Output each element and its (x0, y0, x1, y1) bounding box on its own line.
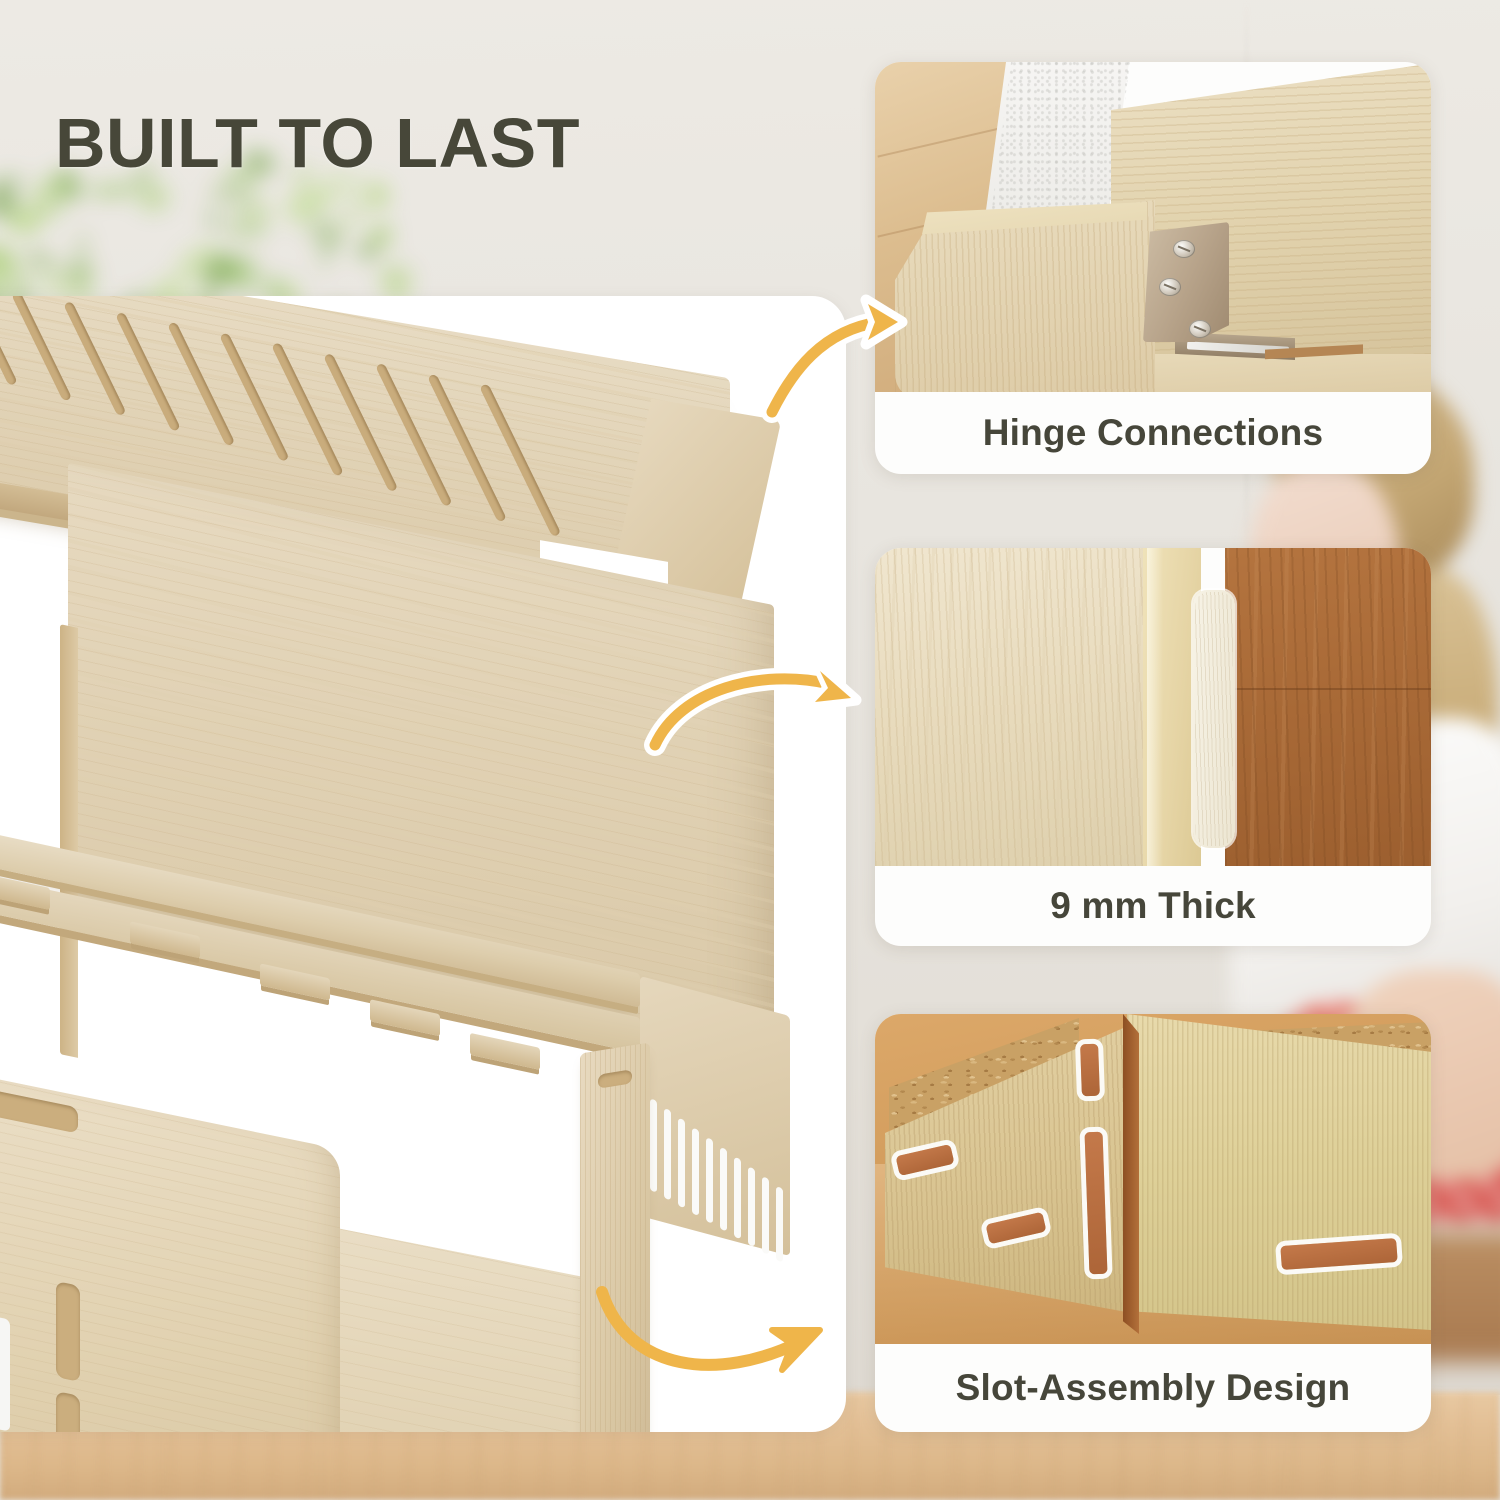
hinge-bracket-closeup-photo (875, 62, 1431, 392)
right-panel-grain (1127, 1014, 1431, 1330)
grill-bar (734, 1157, 741, 1239)
feature-card-hinge-connections[interactable]: Hinge Connections (875, 62, 1431, 474)
interlock-tab (470, 1033, 540, 1070)
slot-cutout (598, 1069, 632, 1088)
leaf (77, 233, 90, 249)
feature-card-slot-assembly[interactable]: Slot-Assembly Design (875, 1014, 1431, 1432)
hinge-screw (1159, 278, 1181, 296)
interlock-tab (370, 999, 440, 1036)
main-product-panel (0, 296, 846, 1432)
feature-card-label: 9 mm Thick (875, 866, 1431, 946)
slot-cutout (0, 1089, 78, 1133)
leaf (23, 248, 55, 273)
second-panel-grain (1195, 592, 1233, 846)
light-wood-grain (875, 548, 1147, 866)
leaf (88, 183, 135, 199)
leaf (218, 258, 258, 281)
slot-cutout (56, 1281, 80, 1382)
feature-card-label: Hinge Connections (875, 392, 1431, 474)
hinge-screw (1189, 320, 1211, 338)
lid-slat (0, 296, 18, 386)
grill-bar (692, 1128, 699, 1216)
slot-cutout (56, 1391, 80, 1432)
interlock-tab (130, 921, 200, 958)
leaf (378, 263, 414, 295)
corner-edge-band (1123, 1014, 1139, 1334)
grill-bar (720, 1147, 727, 1231)
hinge-screw (1173, 240, 1195, 258)
panel-thickness-closeup-photo (875, 548, 1431, 866)
grill-bar (650, 1099, 657, 1193)
plank-seam (1225, 688, 1431, 690)
slot-tab (1080, 1044, 1100, 1097)
body-left-edge (60, 624, 78, 1058)
grill-bar (664, 1108, 671, 1200)
page-title: BUILT TO LAST (55, 108, 580, 178)
grill-bar (678, 1118, 685, 1208)
leaf (201, 207, 225, 233)
slot-tab-corner-closeup-photo (875, 1014, 1431, 1344)
panel-white-inset (0, 1281, 10, 1432)
interlock-tab (260, 963, 330, 1000)
lower-wood-panel (1147, 354, 1431, 392)
feature-card-thickness[interactable]: 9 mm Thick (875, 548, 1431, 946)
lid-slat (427, 373, 507, 522)
leaf (331, 197, 372, 236)
dark-wood-grain (1225, 548, 1431, 866)
grill-bar (762, 1177, 769, 1255)
lid-slat (479, 383, 561, 536)
rear-rail (640, 976, 790, 1256)
front-panel-grain (0, 1043, 340, 1432)
leaf (370, 225, 392, 247)
grill-bar (776, 1186, 783, 1262)
exploded-product-render (0, 296, 846, 1432)
side-panel-grain (580, 1042, 650, 1432)
edge-highlight (1147, 548, 1163, 866)
lid-slat (11, 296, 72, 401)
grill-bar (748, 1167, 755, 1247)
feature-card-label: Slot-Assembly Design (875, 1344, 1431, 1432)
grill-bar (706, 1138, 713, 1224)
